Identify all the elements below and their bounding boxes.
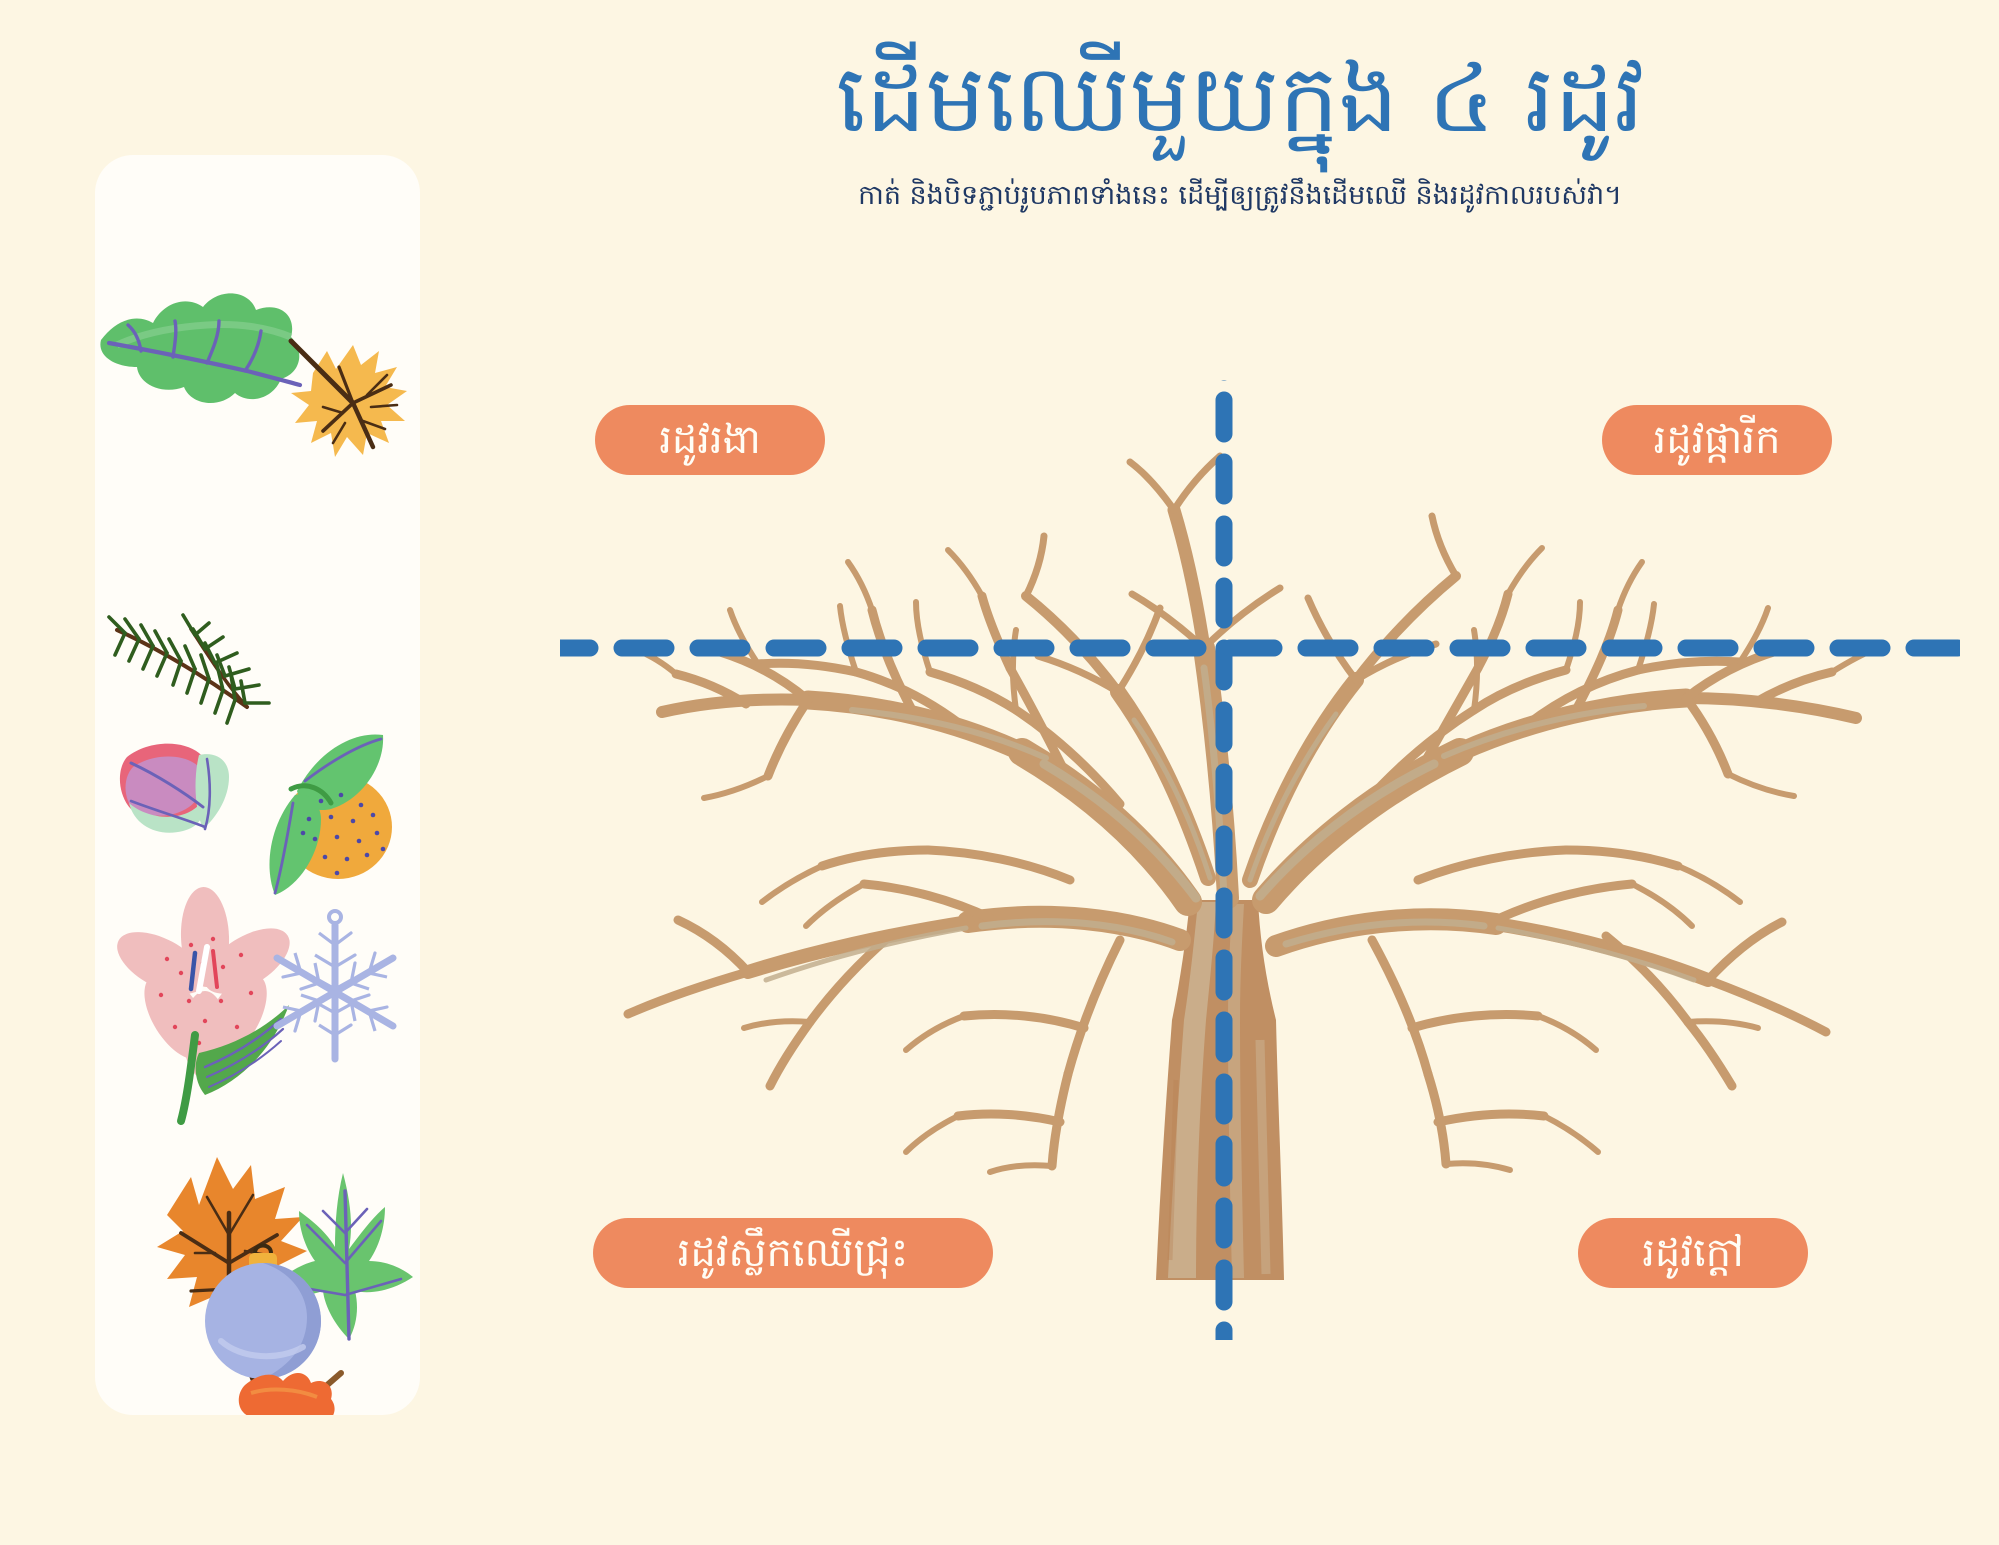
orange-fruit-sticker[interactable] (269, 734, 392, 895)
snowflake-sticker[interactable] (277, 911, 393, 1059)
page-title: ដើមឈើមួយក្នុង ៤ រដូវ (560, 40, 1920, 160)
sticker-panel (95, 155, 420, 1415)
sticker-illustrations (95, 155, 420, 1415)
green-oak-leaf-sticker[interactable] (100, 293, 300, 403)
bare-tree-illustration (628, 456, 1878, 1280)
page-subtitle: កាត់ និងបិទភ្ជាប់រូបភាពទាំងនេះ ដើម្បីឲ្យ… (560, 176, 1920, 217)
title-block: ដើមឈើមួយក្នុង ៤ រដូវ កាត់ និងបិទភ្ជាប់រូ… (560, 40, 1920, 217)
oak-leaves-acorn-sticker[interactable] (151, 1373, 362, 1415)
pine-sprig-sticker[interactable] (109, 615, 269, 723)
pink-flower-bud-sticker[interactable] (120, 744, 229, 833)
tree-work-area (560, 380, 1960, 1340)
pink-lily-flower-sticker[interactable] (107, 886, 300, 1121)
worksheet-page: ដើមឈើមួយក្នុង ៤ រដូវ កាត់ និងបិទភ្ជាប់រូ… (0, 0, 1999, 1545)
yellow-maple-leaf-sticker[interactable] (291, 341, 407, 457)
